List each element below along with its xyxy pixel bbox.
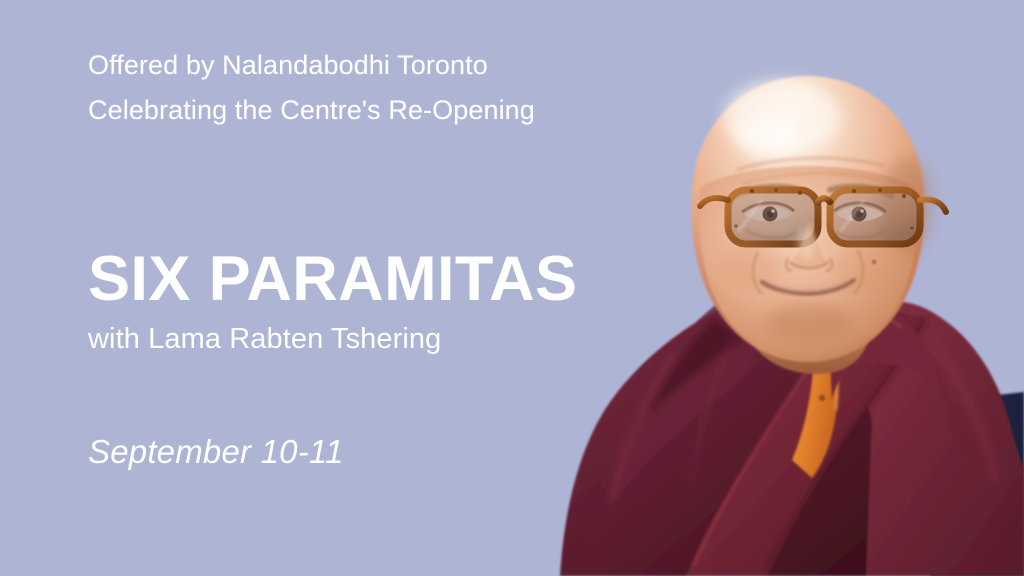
event-presenter: with Lama Rabten Tshering (88, 325, 441, 354)
event-date: September 10-11 (88, 435, 344, 468)
organizer-line: Offered by Nalandabodhi Toronto (88, 52, 608, 79)
occasion-line: Celebrating the Centre's Re-Opening (88, 97, 608, 124)
event-banner: Offered by Nalandabodhi Toronto Celebrat… (0, 0, 1024, 576)
event-title: SIX PARAMITAS (88, 248, 577, 311)
text-content: Offered by Nalandabodhi Toronto Celebrat… (0, 0, 620, 576)
